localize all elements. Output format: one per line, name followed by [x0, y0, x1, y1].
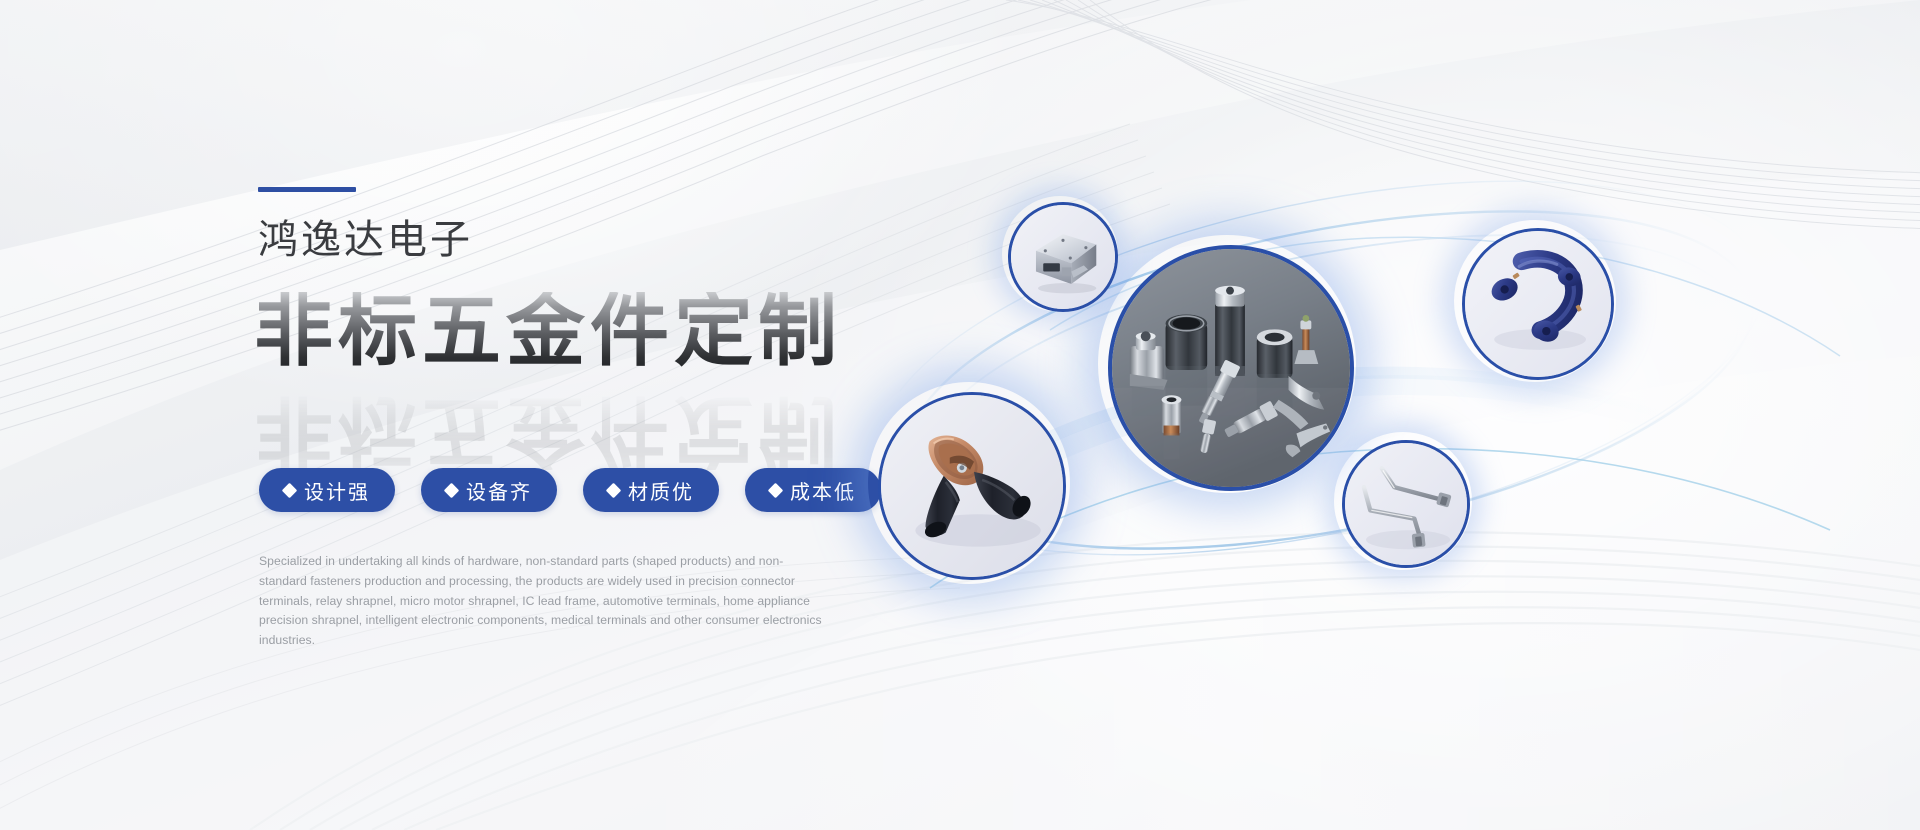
- page-title: 非标五金件定制: [254, 292, 954, 371]
- feature-badge-label: 设备齐: [466, 476, 532, 505]
- feature-badge-material[interactable]: 材质优: [583, 468, 719, 512]
- diamond-icon: [444, 482, 460, 498]
- machined-parts-illustration: [1112, 249, 1350, 487]
- feature-badge-equipment[interactable]: 设备齐: [421, 468, 557, 512]
- blue-retaining-ring-photo[interactable]: [1462, 228, 1614, 380]
- metal-enclosure-photo[interactable]: [1008, 202, 1118, 312]
- hero-content: 鸿逸达电子 非标五金件定制 非标五金件定制 设计强 设备齐 材质优 成本低: [258, 0, 958, 830]
- metal-enclosure-illustration: [1011, 205, 1115, 309]
- diamond-icon: [606, 482, 622, 498]
- bent-wire-terminals-photo[interactable]: [1342, 440, 1470, 568]
- copper-battery-clamp-photo[interactable]: [878, 392, 1066, 580]
- diamond-icon: [282, 482, 298, 498]
- battery-clamp-illustration: [881, 395, 1063, 577]
- hero-banner: 鸿逸达电子 非标五金件定制 非标五金件定制 设计强 设备齐 材质优 成本低: [0, 0, 1920, 830]
- headline-block: 非标五金件定制 非标五金件定制: [254, 292, 954, 442]
- feature-badge-design[interactable]: 设计强: [259, 468, 395, 512]
- diamond-icon: [768, 482, 784, 498]
- feature-badge-label: 材质优: [628, 476, 694, 505]
- feature-badge-list: 设计强 设备齐 材质优 成本低: [259, 468, 881, 512]
- feature-badge-cost[interactable]: 成本低: [745, 468, 881, 512]
- description-paragraph: Specialized in undertaking all kinds of …: [259, 552, 831, 651]
- wire-terminals-illustration: [1345, 443, 1467, 565]
- product-showcase: [900, 160, 1920, 660]
- brand-name: 鸿逸达电子: [258, 220, 473, 260]
- accent-rule: [258, 187, 356, 192]
- headline-reflection: 非标五金件定制: [254, 391, 842, 470]
- feature-badge-label: 成本低: [790, 476, 856, 505]
- retaining-ring-illustration: [1465, 231, 1611, 377]
- precision-machined-parts-photo[interactable]: [1108, 245, 1354, 491]
- feature-badge-label: 设计强: [304, 476, 370, 505]
